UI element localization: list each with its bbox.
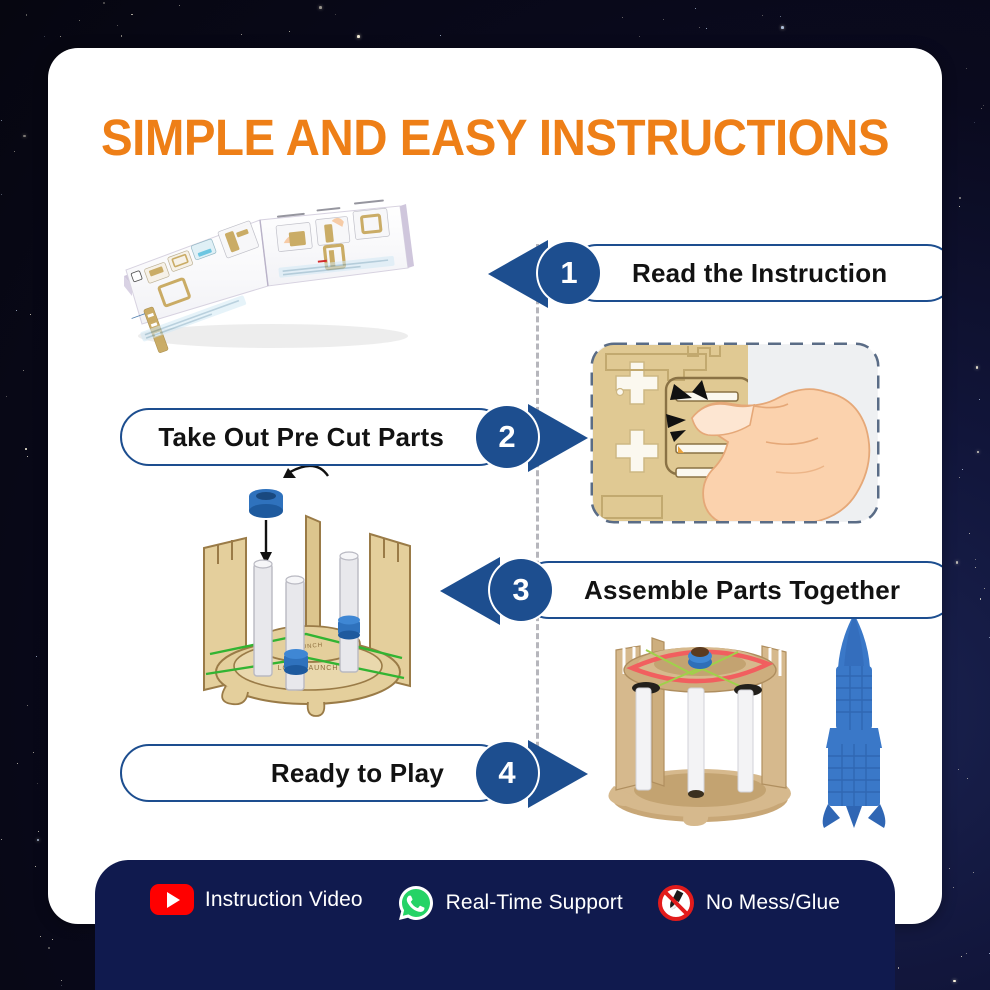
page-title: SIMPLE AND EASY INSTRUCTIONS [79, 112, 910, 163]
step-3-label: Assemble Parts Together [584, 575, 900, 606]
step-1-pill[interactable]: Read the Instruction [568, 244, 942, 302]
no-glue-icon [657, 884, 695, 922]
step-3-pill[interactable]: Assemble Parts Together [520, 561, 942, 619]
launcher-assembly-diagram: LOCK/LAUNCH LAUNCH [188, 458, 428, 738]
step-4-label: Ready to Play [271, 758, 444, 789]
step-2[interactable]: Take Out Pre Cut Parts 2 [120, 408, 570, 466]
footer-item-real-time-support[interactable]: Real-Time Support [397, 884, 623, 922]
step-3-number-badge: 3 [490, 559, 552, 621]
poster-stage: SIMPLE AND EASY INSTRUCTIONS [0, 0, 990, 990]
step-connector-line [536, 244, 539, 784]
finished-launcher-and-rocket-photo [588, 608, 928, 838]
footer-feature-bar: Instruction Video Real-Time Support [95, 860, 895, 990]
step-3[interactable]: Assemble Parts Together 3 [458, 561, 942, 619]
step-4-number-badge: 4 [476, 742, 538, 804]
youtube-icon [150, 884, 194, 915]
instruction-booklet-photo [108, 158, 428, 358]
footer-label-instruction-video: Instruction Video [205, 888, 363, 912]
step-4[interactable]: Ready to Play 4 [120, 744, 570, 802]
footer-item-instruction-video[interactable]: Instruction Video [150, 884, 363, 915]
step-1-number-badge: 1 [538, 242, 600, 304]
content-card: SIMPLE AND EASY INSTRUCTIONS [48, 48, 942, 924]
step-1[interactable]: Read the Instruction 1 [506, 244, 942, 302]
footer-label-no-mess-glue: No Mess/Glue [706, 891, 840, 915]
footer-item-no-mess-glue[interactable]: No Mess/Glue [657, 884, 840, 922]
hand-pushing-precut-plywood-part [570, 296, 910, 526]
footer-label-real-time-support: Real-Time Support [446, 891, 623, 915]
step-2-number-badge: 2 [476, 406, 538, 468]
step-4-pill[interactable]: Ready to Play [120, 744, 508, 802]
step-1-label: Read the Instruction [632, 258, 887, 289]
step-2-label: Take Out Pre Cut Parts [158, 422, 444, 453]
step-2-pill[interactable]: Take Out Pre Cut Parts [120, 408, 508, 466]
whatsapp-icon [397, 884, 435, 922]
